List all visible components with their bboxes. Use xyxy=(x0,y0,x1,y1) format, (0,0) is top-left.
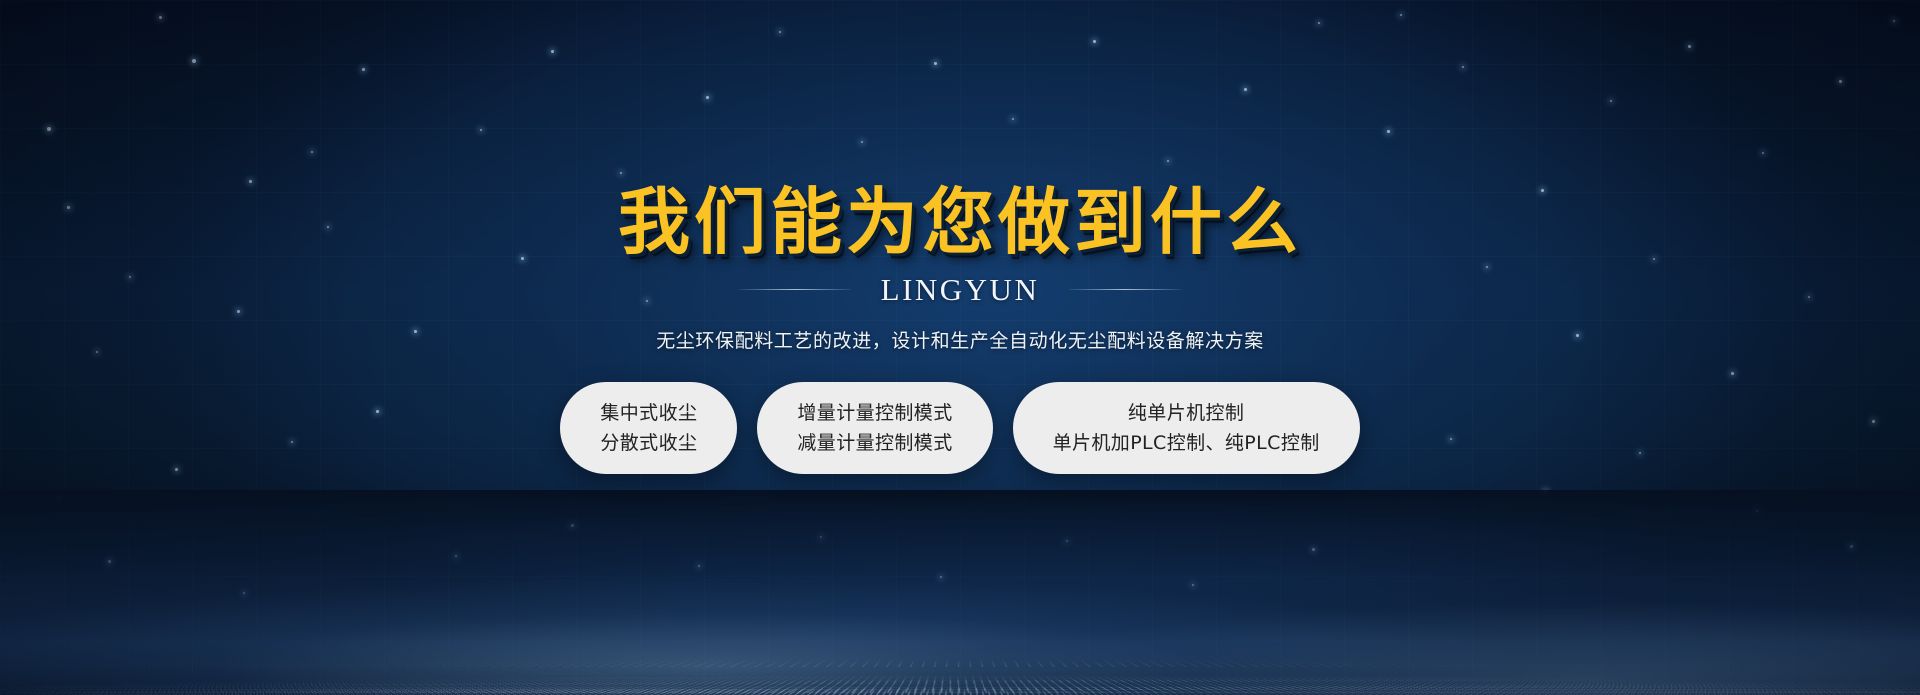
feature-card-control-system[interactable]: 纯单片机控制 单片机加PLC控制、纯PLC控制 xyxy=(1013,382,1360,474)
hero-banner: 我们能为您做到什么 LINGYUN 无尘环保配料工艺的改进，设计和生产全自动化无… xyxy=(0,0,1920,695)
feature-card-list: 集中式收尘 分散式收尘 增量计量控制模式 减量计量控制模式 纯单片机控制 单片机… xyxy=(560,382,1359,474)
feature-card-metering-mode[interactable]: 增量计量控制模式 减量计量控制模式 xyxy=(757,382,992,474)
feature-card-dust-collection[interactable]: 集中式收尘 分散式收尘 xyxy=(560,382,737,474)
card-line-secondary: 减量计量控制模式 xyxy=(797,434,952,453)
divider-line-right xyxy=(1069,289,1181,290)
brand-subtitle: LINGYUN xyxy=(881,274,1040,305)
card-line-secondary: 分散式收尘 xyxy=(600,434,697,453)
description-text: 无尘环保配料工艺的改进，设计和生产全自动化无尘配料设备解决方案 xyxy=(656,332,1264,351)
card-line-primary: 增量计量控制模式 xyxy=(797,404,952,423)
banner-content: 我们能为您做到什么 LINGYUN 无尘环保配料工艺的改进，设计和生产全自动化无… xyxy=(0,0,1920,695)
page-title: 我们能为您做到什么 xyxy=(618,186,1302,258)
card-line-secondary: 单片机加PLC控制、纯PLC控制 xyxy=(1053,434,1320,453)
card-line-primary: 集中式收尘 xyxy=(600,404,697,423)
divider-line-left xyxy=(739,289,851,290)
subtitle-row: LINGYUN xyxy=(739,274,1182,305)
card-line-primary: 纯单片机控制 xyxy=(1128,404,1244,423)
